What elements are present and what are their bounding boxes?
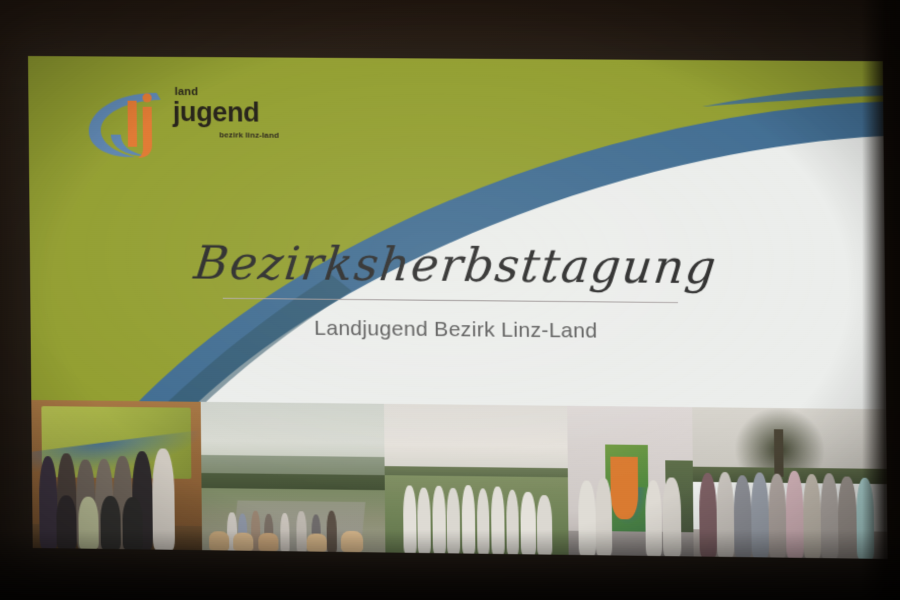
slide-canvas: land jugend bezirk linz-land Bezirksherb… (28, 56, 888, 559)
logo-line-bezirk: bezirk linz-land (219, 130, 304, 140)
projected-slide: land jugend bezirk linz-land Bezirksherb… (28, 56, 888, 559)
floor-shadow (0, 530, 900, 600)
logo-wordmark: land jugend bezirk linz-land (173, 87, 304, 140)
landjugend-logo: land jugend bezirk linz-land (80, 82, 297, 162)
photo-strip-item (31, 400, 202, 550)
logo-line-jugend: jugend (173, 99, 304, 127)
slide-title: Bezirksherbsttagung (28, 234, 888, 296)
wall-edge-shadow (862, 0, 900, 600)
